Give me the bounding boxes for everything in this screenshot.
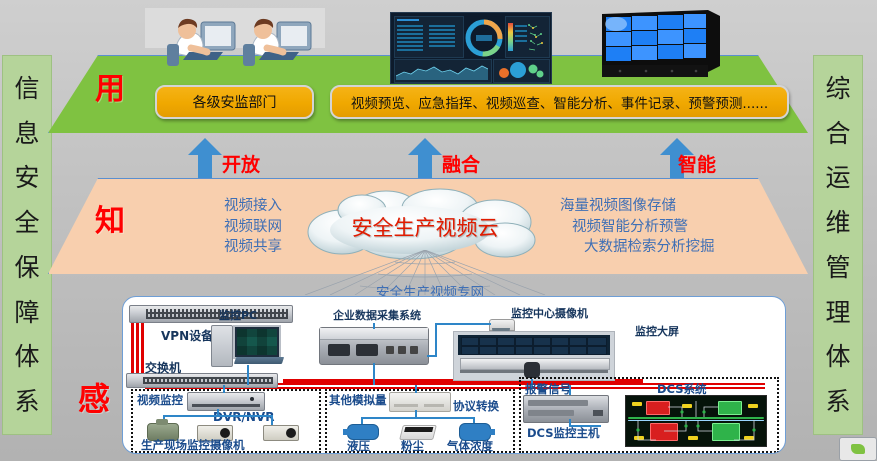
site-camera-caption: 生产现场监控摄像机: [141, 437, 245, 453]
video-wall-image: [592, 10, 720, 80]
right-banner-operations-management: 综 合 运 维 管 理 体 系: [813, 55, 863, 435]
left-banner-char: 系: [14, 389, 39, 414]
cloud-right-item: 视频智能分析预警: [560, 217, 790, 238]
right-banner-char: 体: [825, 344, 850, 369]
right-banner-char: 理: [825, 300, 850, 325]
dvr-nvr-icon: [187, 392, 265, 411]
data-collection-server-icon: [319, 327, 429, 365]
right-banner-char: 系: [825, 389, 850, 414]
right-banner-char: 综: [825, 76, 850, 101]
sensor-label-dust: 粉尘: [401, 438, 424, 454]
vpn-device-label: VPN设备: [161, 327, 213, 344]
left-banner-information-security: 信 息 安 全 保 障 体 系: [2, 55, 52, 435]
cloud-left-item: 视频共享: [132, 237, 282, 258]
right-banner-char: 运: [825, 165, 850, 190]
pc-tower-icon: [211, 325, 233, 367]
left-banner-char: 信: [14, 76, 39, 101]
cloud-right-item: 大数据检索分析挖掘: [560, 237, 790, 258]
cloud-label: 安全生产视频云: [330, 212, 520, 242]
gold-box-department[interactable]: 各级安监部门: [155, 85, 314, 119]
dvr-nvr-label: DVR/NVR: [213, 410, 274, 424]
left-banner-char: 全: [14, 210, 39, 235]
keyboard-icon: [234, 357, 284, 364]
cloud-left-item: 视频联网: [132, 217, 282, 238]
pc-monitor-icon: [233, 325, 281, 359]
bi-dashboard-image: [390, 12, 552, 84]
left-banner-char: 障: [14, 300, 39, 325]
architecture-diagram: 信 息 安 全 保 障 体 系 综 合 运 维 管 理 体 系 用: [0, 0, 877, 461]
cloud-right-capabilities: 海量视频图像存储 视频智能分析预警 大数据检索分析挖掘: [560, 196, 790, 258]
enterprise-data-collection-label: 企业数据采集系统: [333, 307, 421, 323]
dcs-host-icon: [523, 395, 609, 423]
left-banner-char: 保: [14, 255, 39, 280]
sensor-label-gas: 气体浓度: [447, 438, 493, 454]
right-banner-char: 合: [825, 121, 850, 146]
monitor-pc-label: 监控PC: [219, 307, 257, 323]
cloud-left-item: 视频接入: [132, 196, 282, 217]
left-banner-char: 体: [14, 344, 39, 369]
control-big-screen-label: 监控大屏: [635, 323, 679, 339]
sensor-label-hydraulic: 液压: [347, 438, 370, 454]
layer-know-letter: 知: [95, 196, 125, 240]
operators-at-computers-image: [145, 8, 325, 78]
dcs-host-label: DCS监控主机: [527, 425, 599, 441]
dcs-system-image: [625, 395, 767, 447]
green-leaf-icon: [851, 444, 865, 454]
gold-box-functions[interactable]: 视频预览、应急指挥、视频巡查、智能分析、事件记录、预警预测......: [330, 85, 789, 119]
box-camera-icon: [263, 425, 299, 441]
video-surveillance-title: 视频监控: [137, 392, 183, 408]
protocol-converter-icon: [389, 392, 451, 412]
analog-signal-title: 其他模拟量: [329, 392, 387, 408]
left-banner-char: 安: [14, 165, 39, 190]
left-banner-char: 息: [14, 121, 39, 146]
right-banner-char: 维: [825, 210, 850, 235]
cloud-left-capabilities: 视频接入 视频联网 视频共享: [132, 196, 282, 258]
arrow-label-intelligent: 智能: [678, 150, 716, 177]
right-banner-char: 管: [825, 255, 850, 280]
arrow-label-open: 开放: [222, 150, 260, 177]
control-room-image: [453, 331, 615, 381]
layer-use-letter: 用: [95, 64, 125, 108]
control-center-camera-label: 监控中心摄像机: [511, 305, 588, 321]
arrow-label-fusion: 融合: [442, 150, 480, 177]
layer-sense-letter: 感: [78, 374, 110, 420]
sense-layer-panel: VPN设备 交换机 监控PC 企业数据采集系统 监控中心摄像机: [122, 296, 786, 454]
cloud-right-item: 海量视频图像存储: [560, 196, 790, 217]
vpn-device-icon: [129, 305, 293, 323]
switch-label: 交换机: [145, 359, 181, 376]
page-corner-widget[interactable]: [839, 437, 877, 461]
protocol-converter-label: 协议转换: [453, 398, 499, 414]
